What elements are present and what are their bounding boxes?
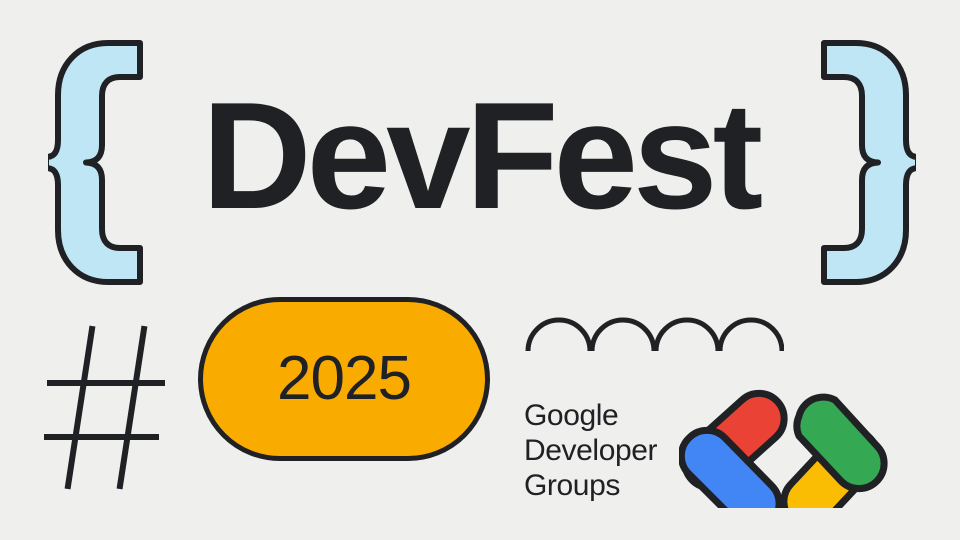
gdg-chevron-logo	[679, 388, 889, 513]
devfest-poster: DevFest 2025	[0, 0, 960, 540]
gdg-wordmark-line-2: Developer	[524, 433, 657, 468]
curly-brace-close-icon	[806, 40, 916, 290]
gdg-lockup: Google Developer Groups	[524, 388, 889, 513]
hash-symbol-icon	[44, 325, 174, 495]
gdg-chevron-right	[784, 397, 884, 508]
gdg-chevron-left	[682, 393, 785, 508]
year-badge: 2025	[198, 297, 490, 461]
gdg-wordmark: Google Developer Groups	[524, 398, 657, 503]
year-badge-label: 2025	[277, 348, 411, 410]
gdg-wordmark-line-1: Google	[524, 398, 657, 433]
scalloped-arc-wave-icon	[524, 296, 784, 359]
gdg-wordmark-line-3: Groups	[524, 468, 657, 503]
